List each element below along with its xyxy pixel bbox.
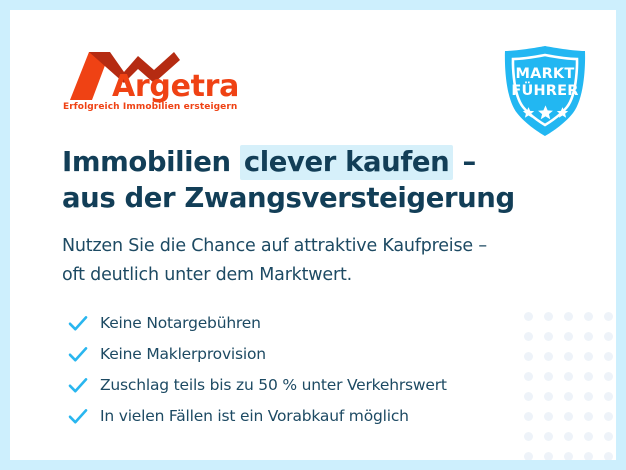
list-item-label: Zuschlag teils bis zu 50 % unter Verkehr… — [100, 376, 447, 394]
decorative-dot — [518, 386, 538, 406]
decorative-dot — [558, 346, 578, 366]
decorative-dot — [558, 326, 578, 346]
decorative-dot — [538, 306, 558, 326]
decorative-dot — [558, 446, 578, 460]
decorative-dot — [598, 426, 616, 446]
decorative-dot — [578, 306, 598, 326]
decorative-dot — [538, 366, 558, 386]
decorative-dot — [578, 426, 598, 446]
promo-banner: Argetra Erfolgreich Immobilien ersteiger… — [0, 0, 626, 470]
check-icon — [66, 373, 90, 397]
headline-text-before: Immobilien — [62, 146, 240, 178]
decorative-dot — [538, 326, 558, 346]
decorative-dot — [518, 326, 538, 346]
argetra-logo: Argetra Erfolgreich Immobilien ersteiger… — [62, 50, 242, 122]
list-item: Keine Notargebühren — [66, 308, 516, 338]
decorative-dot-grid — [518, 306, 616, 460]
decorative-dot — [558, 386, 578, 406]
subheading: Nutzen Sie die Chance auf attraktive Kau… — [62, 232, 552, 290]
decorative-dot — [578, 346, 598, 366]
list-item: Zuschlag teils bis zu 50 % unter Verkehr… — [66, 370, 516, 400]
headline-highlight: clever kaufen — [240, 145, 454, 180]
decorative-dot — [578, 366, 598, 386]
banner-card: Argetra Erfolgreich Immobilien ersteiger… — [10, 10, 616, 460]
decorative-dot — [598, 446, 616, 460]
decorative-dot — [538, 446, 558, 460]
decorative-dot — [598, 326, 616, 346]
decorative-dot — [598, 386, 616, 406]
decorative-dot — [578, 326, 598, 346]
logo-tagline: Erfolgreich Immobilien ersteigern — [63, 102, 237, 112]
list-item-label: In vielen Fällen ist ein Vorabkauf mögli… — [100, 407, 409, 425]
check-icon — [66, 311, 90, 335]
decorative-dot — [538, 346, 558, 366]
decorative-dot — [518, 406, 538, 426]
decorative-dot — [518, 366, 538, 386]
decorative-dot — [518, 346, 538, 366]
decorative-dot — [558, 306, 578, 326]
list-item: Keine Maklerprovision — [66, 339, 516, 369]
decorative-dot — [578, 406, 598, 426]
list-item-label: Keine Maklerprovision — [100, 345, 266, 363]
headline-line-2: aus der Zwangsversteigerung — [62, 180, 532, 216]
decorative-dot — [598, 406, 616, 426]
market-leader-badge: MARKT FÜHRER — [497, 43, 593, 139]
decorative-dot — [558, 406, 578, 426]
decorative-dot — [578, 386, 598, 406]
decorative-dot — [598, 366, 616, 386]
decorative-dot — [538, 406, 558, 426]
decorative-dot — [598, 346, 616, 366]
benefits-list: Keine Notargebühren Keine Maklerprovisio… — [66, 308, 516, 432]
decorative-dot — [518, 306, 538, 326]
logo-wordmark: Argetra — [112, 72, 239, 102]
subheading-line-2: oft deutlich unter dem Marktwert. — [62, 261, 552, 290]
headline-text-after: – — [453, 146, 476, 178]
decorative-dot — [538, 426, 558, 446]
list-item: In vielen Fällen ist ein Vorabkauf mögli… — [66, 401, 516, 431]
decorative-dot — [518, 446, 538, 460]
decorative-dot — [538, 386, 558, 406]
decorative-dot — [578, 446, 598, 460]
subheading-line-1: Nutzen Sie die Chance auf attraktive Kau… — [62, 232, 552, 261]
headline-line-1: Immobilien clever kaufen – — [62, 144, 532, 180]
decorative-dot — [558, 366, 578, 386]
decorative-dot — [598, 306, 616, 326]
list-item-label: Keine Notargebühren — [100, 314, 261, 332]
page-title: Immobilien clever kaufen – aus der Zwang… — [62, 144, 532, 216]
check-icon — [66, 342, 90, 366]
decorative-dot — [558, 426, 578, 446]
decorative-dot — [518, 426, 538, 446]
shield-icon — [497, 43, 593, 139]
check-icon — [66, 404, 90, 428]
